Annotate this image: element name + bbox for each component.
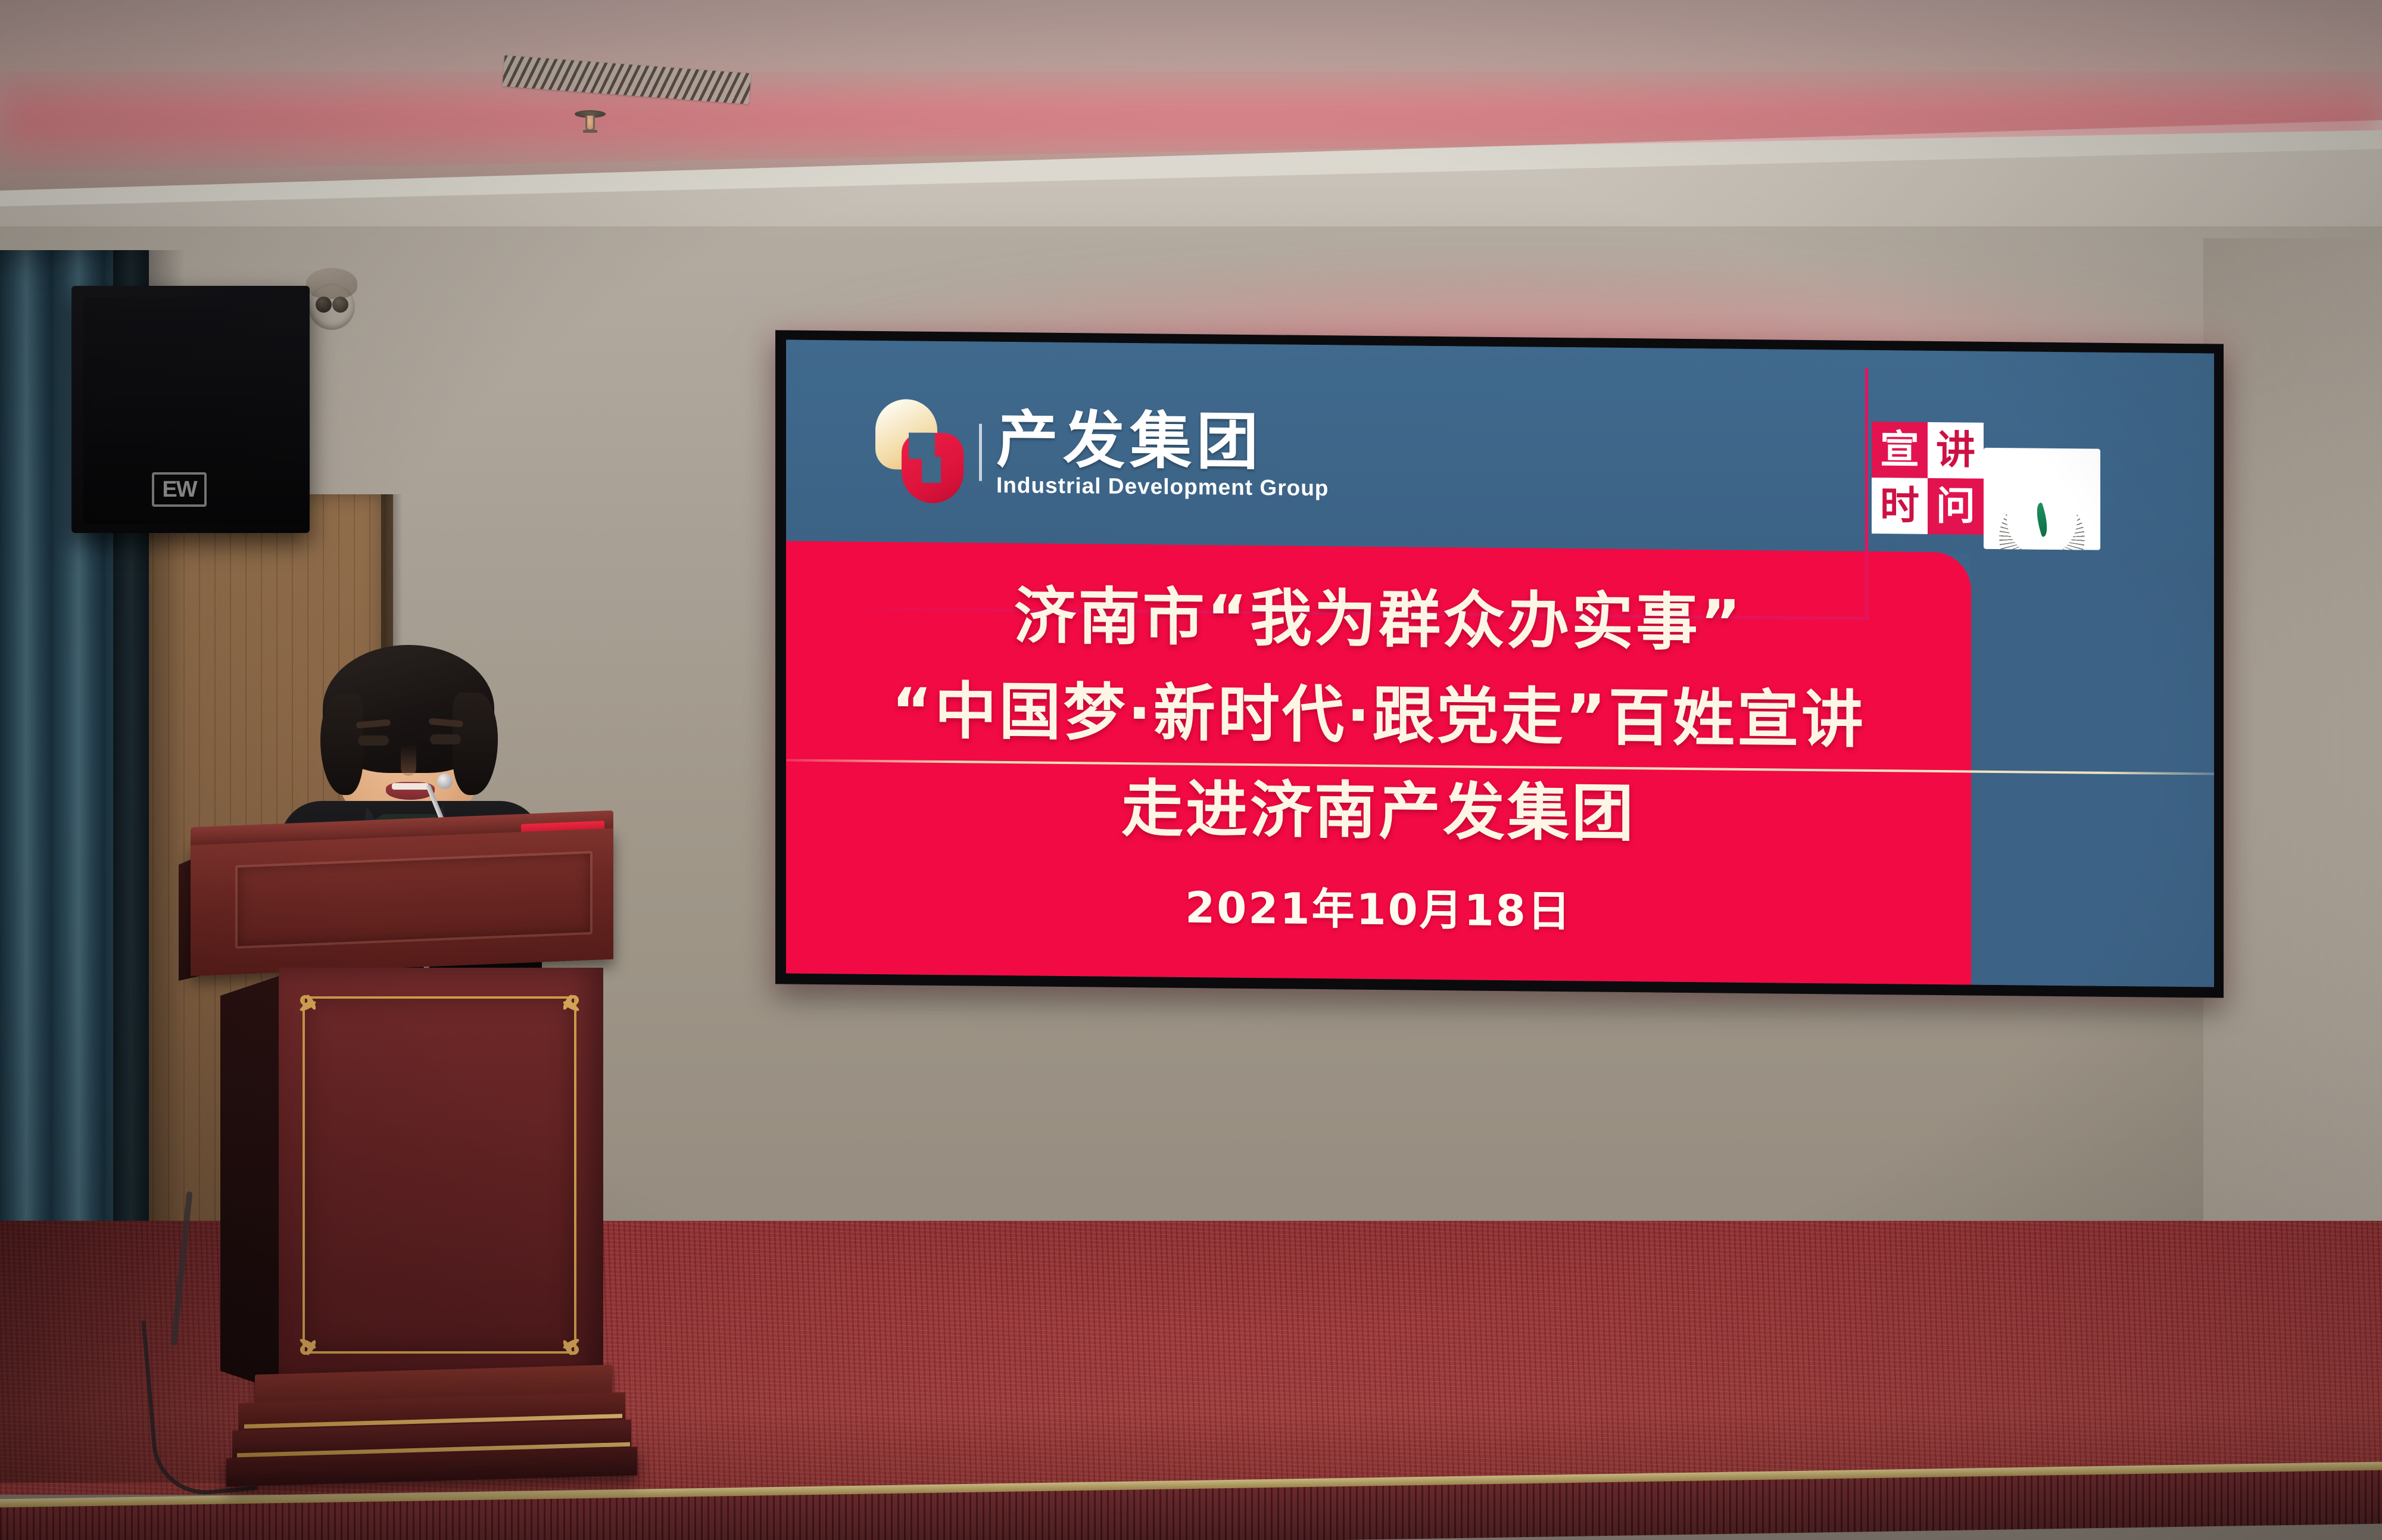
right-wall xyxy=(2203,238,2382,1280)
lectern xyxy=(179,819,619,1498)
slide-title-line-3: 走进济南产发集团 xyxy=(786,758,1971,865)
badge-cell-2: 讲 xyxy=(1928,422,1984,479)
presenter-eye-right xyxy=(430,734,461,744)
presenter-hair-left xyxy=(320,694,363,795)
campaign-badge: 宣 讲 时 问 xyxy=(1872,422,2100,550)
presenter-teeth xyxy=(392,783,429,790)
speaker-brand-badge: EW xyxy=(152,472,207,507)
badge-cell-4: 问 xyxy=(1928,478,1984,535)
led-presentation-screen[interactable]: 产发集团 Industrial Development Group 宣 讲 时 … xyxy=(786,339,2214,987)
presenter-nose xyxy=(401,745,416,776)
lectern-column xyxy=(279,968,603,1385)
fire-sprinkler-icon xyxy=(575,110,606,119)
lectern-column-side xyxy=(220,975,282,1392)
microphone-head-icon xyxy=(437,774,453,789)
slide-date: 2021年10月18日 xyxy=(786,868,1971,942)
company-logo: 产发集团 Industrial Development Group xyxy=(875,399,1329,507)
badge-cell-1: 宣 xyxy=(1872,422,1928,478)
logo-english-name: Industrial Development Group xyxy=(996,474,1329,499)
logo-divider xyxy=(979,423,982,481)
lectern-corner-scroll-tl xyxy=(299,993,331,1025)
slide-title-line-1: 济南市“我为群众办实事” xyxy=(786,566,1971,673)
slide-blue-right-panel xyxy=(1971,553,2214,987)
presenter-hair-right xyxy=(453,693,498,795)
lectern-corner-scroll-tr xyxy=(548,993,580,1025)
chanfa-logo-mark-icon xyxy=(875,399,965,504)
slide-title-line-2: “中国梦·新时代·跟党走”百姓宣讲 xyxy=(786,662,1971,769)
badge-character-grid: 宣 讲 时 问 xyxy=(1872,422,1984,535)
lectern-gold-frame xyxy=(303,996,576,1354)
conference-hall-scene: EW 产发集团 Industrial Development Group 宣 xyxy=(0,0,2382,1540)
lectern-corner-scroll-bl xyxy=(299,1325,331,1357)
lectern-corner-scroll-br xyxy=(548,1325,580,1357)
badge-cell-3: 时 xyxy=(1872,478,1928,534)
sunburst-sprout-icon xyxy=(1984,448,2100,550)
lectern-desk-inset-panel xyxy=(235,851,593,949)
presenter-eye-left xyxy=(358,735,389,746)
logo-chinese-name: 产发集团 xyxy=(996,409,1329,473)
slide-title-block: 济南市“我为群众办实事” “中国梦·新时代·跟党走”百姓宣讲 走进济南产发集团 … xyxy=(786,566,1971,942)
